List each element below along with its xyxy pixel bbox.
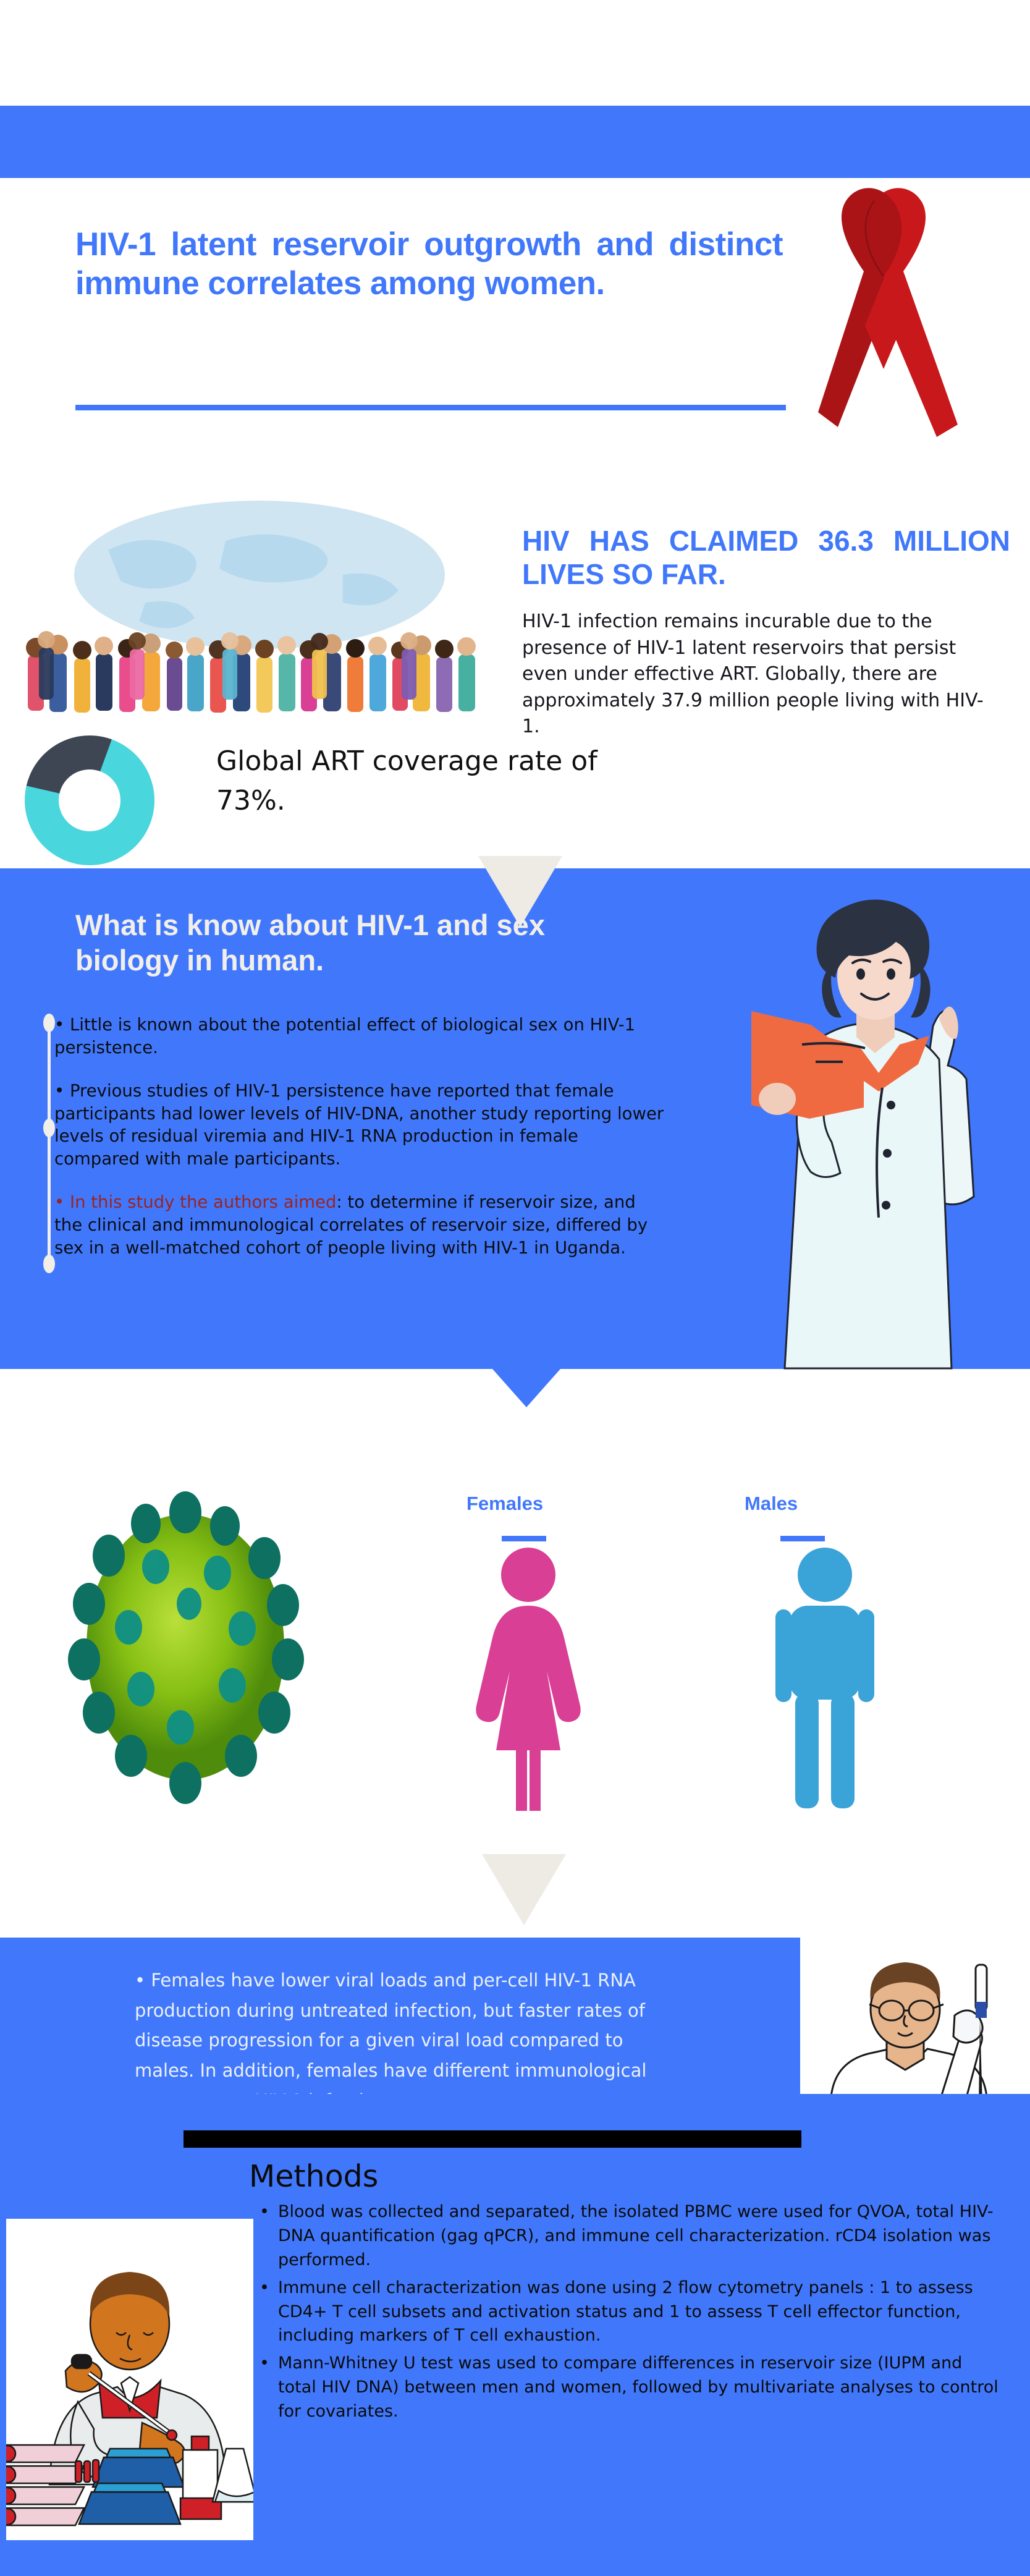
- females-underline: [502, 1536, 546, 1541]
- males-underline: [780, 1536, 825, 1541]
- list-item: • Little is known about the potential ef…: [54, 1014, 666, 1059]
- lab-technician-pipetting-illustration: [6, 2219, 253, 2540]
- male-figure-icon: [757, 1545, 893, 1811]
- females-label: Females: [466, 1493, 543, 1515]
- list-item: Immune cell characterization was done us…: [260, 2276, 1001, 2349]
- what-is-known-bullet-list: • Little is known about the potential ef…: [54, 1014, 666, 1280]
- art-coverage-label: Global ART coverage rate of 73%.: [216, 742, 599, 821]
- header-accent-band: [0, 106, 1030, 178]
- methods-heading: Methods: [249, 2161, 378, 2192]
- page-title-block: HIV-1 latent reservoir outgrowth and dis…: [75, 226, 783, 303]
- female-doctor-pointing-up-illustration: [729, 884, 1019, 1372]
- timeline-dot-icon: [43, 1014, 55, 1032]
- title-underline-rule: [75, 405, 786, 410]
- hiv-virion-image: [25, 1474, 346, 1820]
- female-figure-icon: [460, 1545, 596, 1811]
- crowd-world-map-image: [22, 482, 497, 735]
- blue-arrow-down-icon: [492, 1369, 560, 1407]
- methods-list: Blood was collected and separated, the i…: [260, 2200, 1001, 2428]
- timeline-dot-icon: [43, 1119, 55, 1137]
- list-item-study-aim: • In this study the authors aimed: to de…: [54, 1191, 666, 1259]
- page-title: HIV-1 latent reservoir outgrowth and dis…: [75, 226, 783, 303]
- art-coverage-donut-chart: [25, 735, 154, 865]
- red-aids-ribbon-icon: [791, 177, 976, 499]
- timeline-dot-icon: [43, 1255, 55, 1273]
- hiv-claimed-headline: HIV HAS CLAIMED 36.3 MILLION LIVES SO FA…: [522, 524, 1010, 591]
- list-item: • Previous studies of HIV-1 persistence …: [54, 1080, 666, 1170]
- list-item: Mann-Whitney U test was used to compare …: [260, 2352, 1001, 2424]
- hiv-claimed-body-text: HIV-1 infection remains incurable due to…: [522, 609, 992, 740]
- what-is-known-heading: What is know about HIV-1 and sex biology…: [75, 907, 588, 978]
- bullet-timeline-rail: [43, 1014, 54, 1276]
- cream-arrow-down-icon-2: [482, 1854, 566, 1925]
- methods-divider-bar: [184, 2130, 801, 2148]
- list-item: Blood was collected and separated, the i…: [260, 2200, 1001, 2273]
- study-aim-highlight: • In this study the authors aimed: [54, 1192, 336, 1212]
- males-label: Males: [745, 1493, 798, 1515]
